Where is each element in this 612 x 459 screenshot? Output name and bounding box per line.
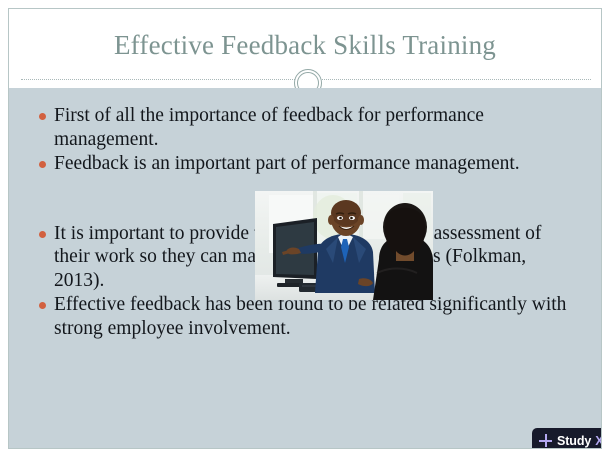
page-title: Effective Feedback Skills Training: [9, 29, 601, 61]
list-item: First of all the importance of feedback …: [31, 104, 577, 151]
bullet-dot-icon: [39, 231, 46, 238]
slide-header: Effective Feedback Skills Training: [9, 9, 601, 88]
list-item-text: First of all the importance of feedback …: [54, 104, 577, 151]
plus-icon: [539, 434, 552, 447]
studyxy-watermark: StudyXY: [532, 428, 602, 449]
slide-frame: Effective Feedback Skills Training First…: [8, 8, 602, 449]
list-item-text: Effective feedback has been found to be …: [54, 293, 577, 340]
bullet-dot-icon: [39, 113, 46, 120]
list-item-text: Feedback is an important part of perform…: [54, 152, 577, 176]
bullet-dot-icon: [39, 302, 46, 309]
list-item: Feedback is an important part of perform…: [31, 152, 577, 176]
watermark-label-primary: Study: [557, 434, 591, 448]
bullet-dot-icon: [39, 161, 46, 168]
presentation-slide: Effective Feedback Skills Training First…: [0, 0, 612, 459]
slide-photo: [255, 191, 433, 300]
list-item: Effective feedback has been found to be …: [31, 293, 577, 340]
watermark-label-secondary: XY: [595, 434, 602, 448]
